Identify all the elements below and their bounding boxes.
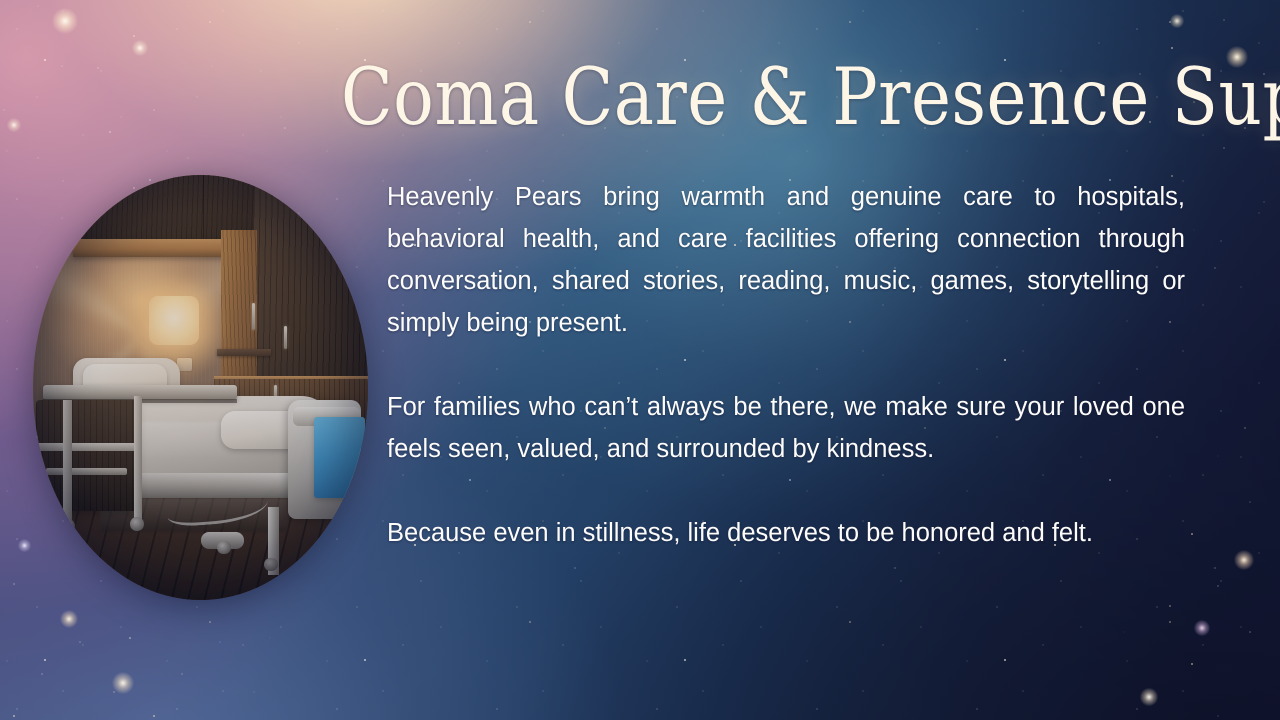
slide-canvas: Coma Care & Presence Support Heavenly Pe… [0,0,1280,720]
slide-title: Coma Care & Presence Support [341,58,1210,136]
hospital-room-photo [33,175,368,600]
paragraph-3: Because even in stillness, life deserves… [387,512,1185,554]
slide-body-copy: Heavenly Pears bring warmth and genuine … [387,176,1185,554]
paragraph-1: Heavenly Pears bring warmth and genuine … [387,176,1185,344]
paragraph-2: For families who can’t always be there, … [387,386,1185,470]
photo-vignette [33,175,368,600]
